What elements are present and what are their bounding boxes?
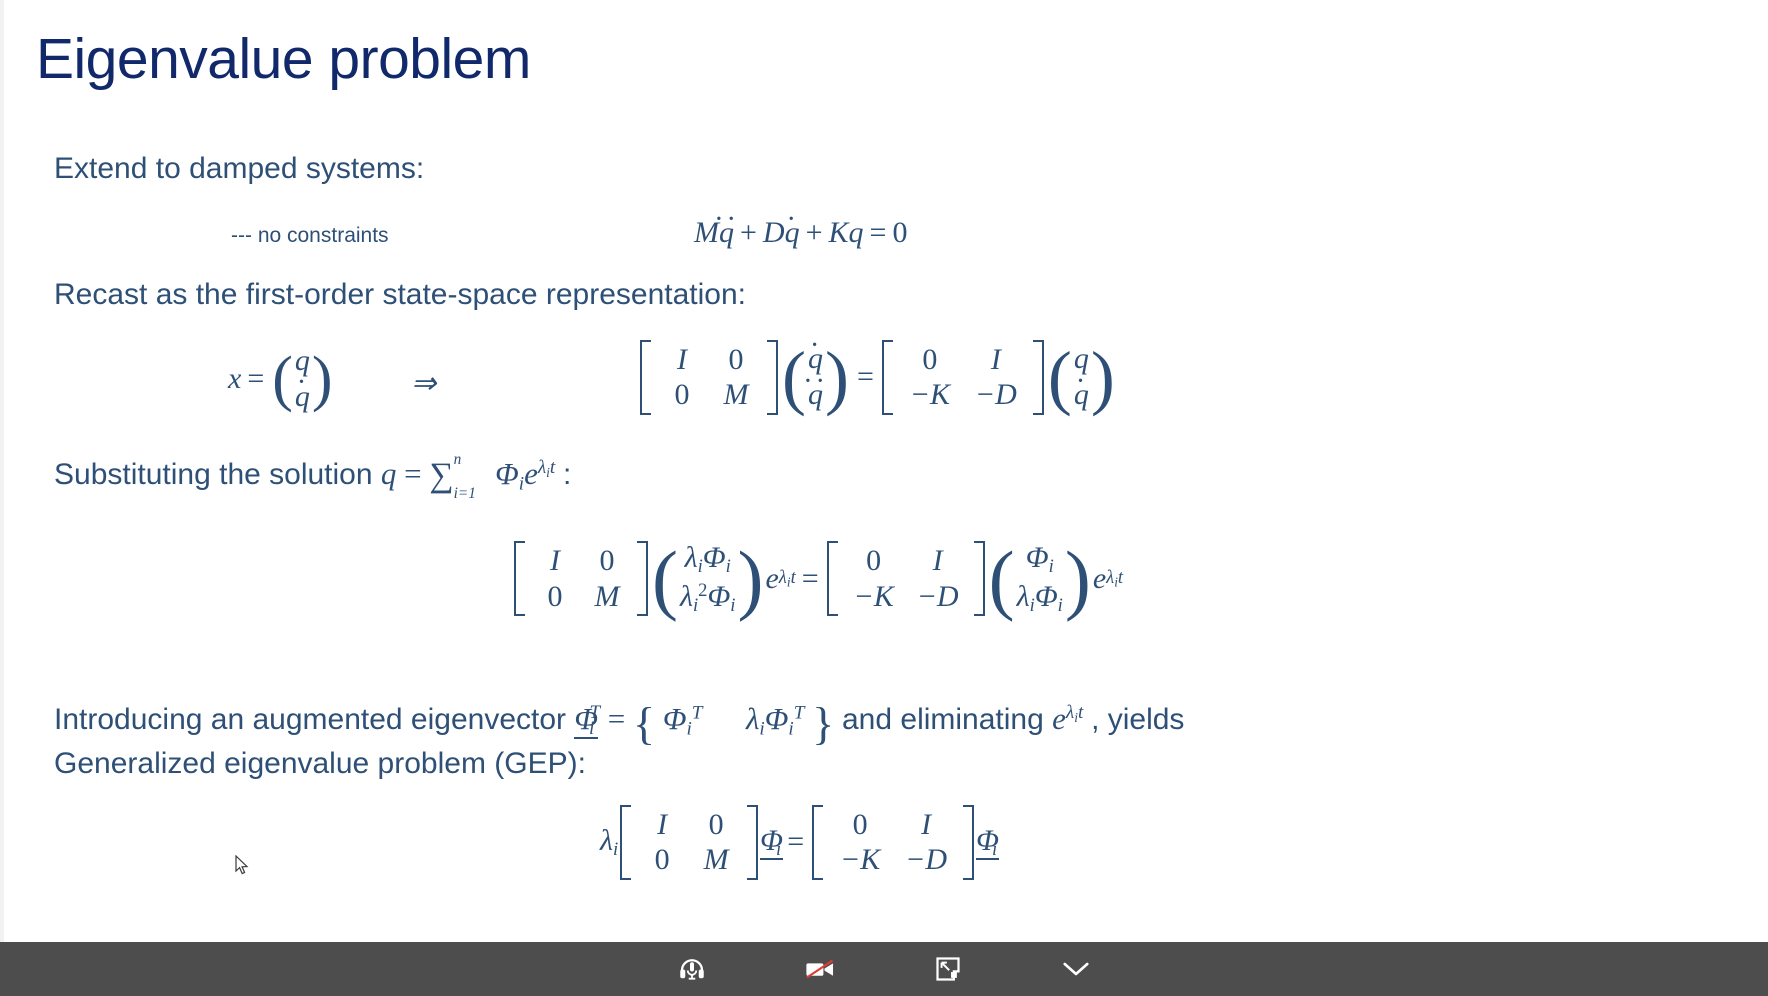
substituting-prefix: Substituting the solution [54, 458, 373, 491]
line-recast-state-space: Recast as the first-order state-space re… [54, 276, 746, 314]
more-options-button[interactable] [1052, 949, 1100, 989]
camera-off-button[interactable] [796, 949, 844, 989]
page-title: Eigenvalue problem [36, 30, 531, 90]
camera-off-icon [803, 954, 837, 984]
inline-augmented-definition: ΦiT = { ΦiT λiΦiT } [574, 701, 842, 736]
line-introducing-augmented-eigenvector: Introducing an augmented eigenvector ΦiT… [54, 700, 1184, 743]
presentation-slide: Eigenvalue problem Extend to damped syst… [0, 0, 1768, 996]
inline-exponential-term: eλit [1052, 701, 1091, 736]
equation-gep: λi I0 0M Φi = 0I [600, 805, 997, 880]
line-extend-to-damped-systems: Extend to damped systems: [54, 150, 424, 188]
meeting-toolbar [0, 942, 1768, 996]
audio-headset-icon [677, 954, 707, 984]
slide-left-rule [0, 0, 4, 942]
introducing-prefix: Introducing an augmented eigenvector [54, 703, 566, 736]
substituting-suffix: : [563, 458, 571, 491]
line-generalized-eigenvalue-problem: Generalized eigenvalue problem (GEP): [54, 745, 586, 783]
equation-substituted: I0 0M ( λiΦi λi2Φi ) eλit = [512, 540, 1123, 624]
introducing-suffix: , yields [1091, 703, 1184, 736]
equation-of-motion: M··q + D·q + Kq = 0 [694, 216, 907, 250]
restore-window-button[interactable] [924, 949, 972, 989]
audio-headset-button[interactable] [668, 949, 716, 989]
restore-window-icon [934, 955, 962, 983]
line-substituting-solution: Substituting the solution q = ∑ni=1 Φieλ… [54, 455, 571, 498]
mouse-pointer [235, 855, 251, 877]
equation-state-space: I0 0M ( ·q ··q ) = [638, 340, 1117, 423]
introducing-mid: and eliminating [842, 703, 1044, 736]
implies-arrow: ⇒ [411, 366, 436, 401]
line-no-constraints: --- no constraints [231, 223, 389, 249]
equation-state-vector: x= ( q ·q ) [228, 343, 335, 415]
chevron-down-icon [1061, 958, 1091, 980]
inline-solution-series: q = ∑ni=1 Φieλit [381, 456, 563, 491]
